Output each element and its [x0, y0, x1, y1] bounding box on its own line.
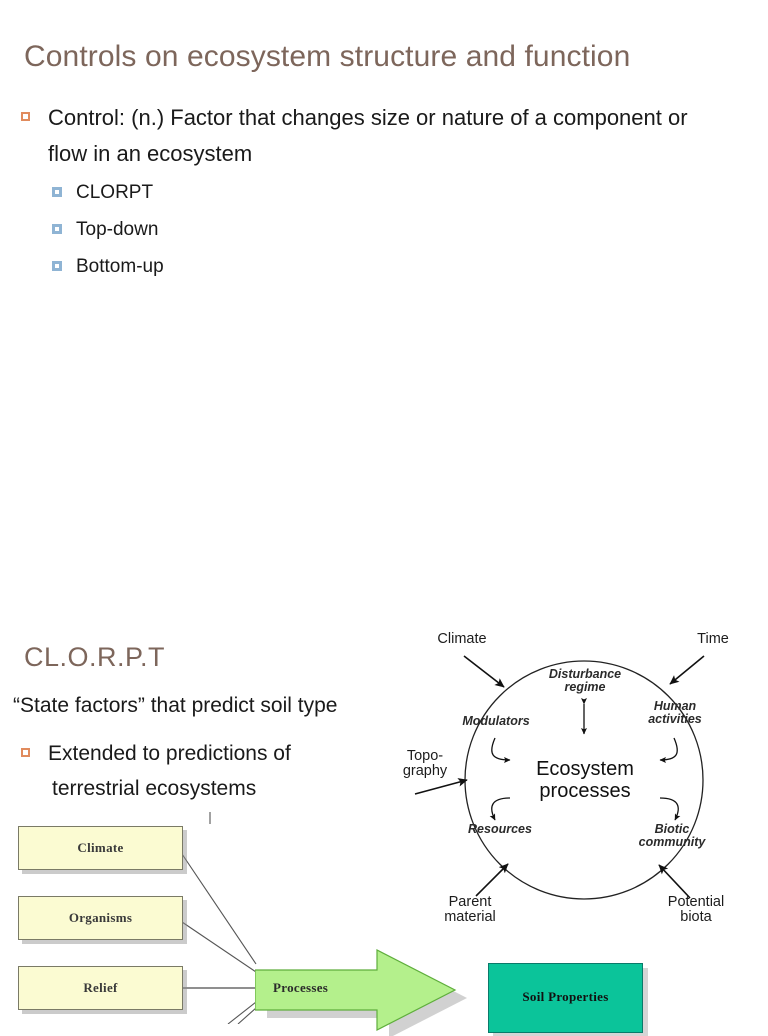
arrow-topography: [415, 780, 467, 794]
bullet-text: Bottom-up: [76, 256, 164, 277]
label-climate: Climate: [410, 632, 514, 647]
bullet-text: CLORPT: [76, 182, 153, 203]
bullet-level1-control: Control: (n.) Factor that changes size o…: [18, 100, 718, 172]
flow-box-organisms: Organisms: [18, 896, 183, 940]
page-title: Controls on ecosystem structure and func…: [24, 40, 630, 74]
line1: Modulators: [450, 715, 542, 728]
box-label: Soil Properties: [522, 989, 608, 1005]
square-bullet-icon: [52, 261, 62, 271]
label-disturbance-regime: Disturbance regime: [529, 668, 641, 695]
arrow-modulators: [492, 738, 510, 760]
flow-box-soil-properties: Soil Properties: [488, 963, 643, 1033]
box-label: Organisms: [69, 910, 132, 926]
line1: Disturbance: [529, 668, 641, 681]
line1: Climate: [410, 632, 514, 647]
slide-clorpt: CL.O.R.P.T “State factors” that predict …: [0, 614, 768, 1024]
arrow-label: Processes: [273, 980, 328, 996]
state-factors-subtitle: “State factors” that predict soil type: [13, 694, 337, 718]
arrow-human-activities: [660, 738, 677, 760]
line2: graphy: [388, 764, 462, 779]
arrow-time: [670, 656, 704, 684]
bullet-text: Top-down: [76, 219, 158, 240]
clorpt-flow-diagram: Climate Organisms Relief Processes Soil …: [10, 812, 660, 1024]
bullet-level2-bottom-up: Bottom-up: [18, 248, 718, 285]
square-bullet-icon: [21, 112, 30, 121]
bullet-level2-clorpt: CLORPT: [18, 174, 718, 211]
bullet-text-line2: terrestrial ecosystems: [48, 771, 418, 806]
ecosystem-processes-center-label: Ecosystem processes: [480, 758, 690, 803]
line1: Time: [678, 632, 748, 647]
flow-box-relief: Relief: [18, 966, 183, 1010]
line1: Human: [633, 700, 717, 713]
bullet-text-line1: Extended to predictions of: [48, 742, 291, 765]
flow-arrow-processes: Processes: [255, 948, 470, 1036]
center-line1: Ecosystem: [480, 758, 690, 780]
flow-box-climate: Climate: [18, 826, 183, 870]
line2: regime: [529, 681, 641, 694]
box-label: Climate: [77, 840, 123, 856]
square-bullet-icon: [52, 224, 62, 234]
center-line2: processes: [480, 780, 690, 802]
label-time: Time: [678, 632, 748, 647]
bullet-level2-top-down: Top-down: [18, 211, 718, 248]
box-label: Relief: [83, 980, 117, 996]
bullet-list: Control: (n.) Factor that changes size o…: [18, 100, 718, 285]
line2: activities: [633, 713, 717, 726]
bullet-extended-to-predictions: Extended to predictions of terrestrial e…: [18, 736, 418, 806]
square-bullet-icon: [21, 748, 30, 757]
label-human-activities: Human activities: [633, 700, 717, 727]
arrow-climate: [464, 656, 504, 687]
bullet-text: Control: (n.) Factor that changes size o…: [48, 105, 688, 166]
square-bullet-icon: [52, 187, 62, 197]
page-title-clorpt: CL.O.R.P.T: [24, 642, 165, 673]
label-topography: Topo- graphy: [388, 749, 462, 780]
line1: Topo-: [388, 749, 462, 764]
slide-controls-on-ecosystem: Controls on ecosystem structure and func…: [0, 0, 768, 614]
label-modulators: Modulators: [450, 715, 542, 728]
